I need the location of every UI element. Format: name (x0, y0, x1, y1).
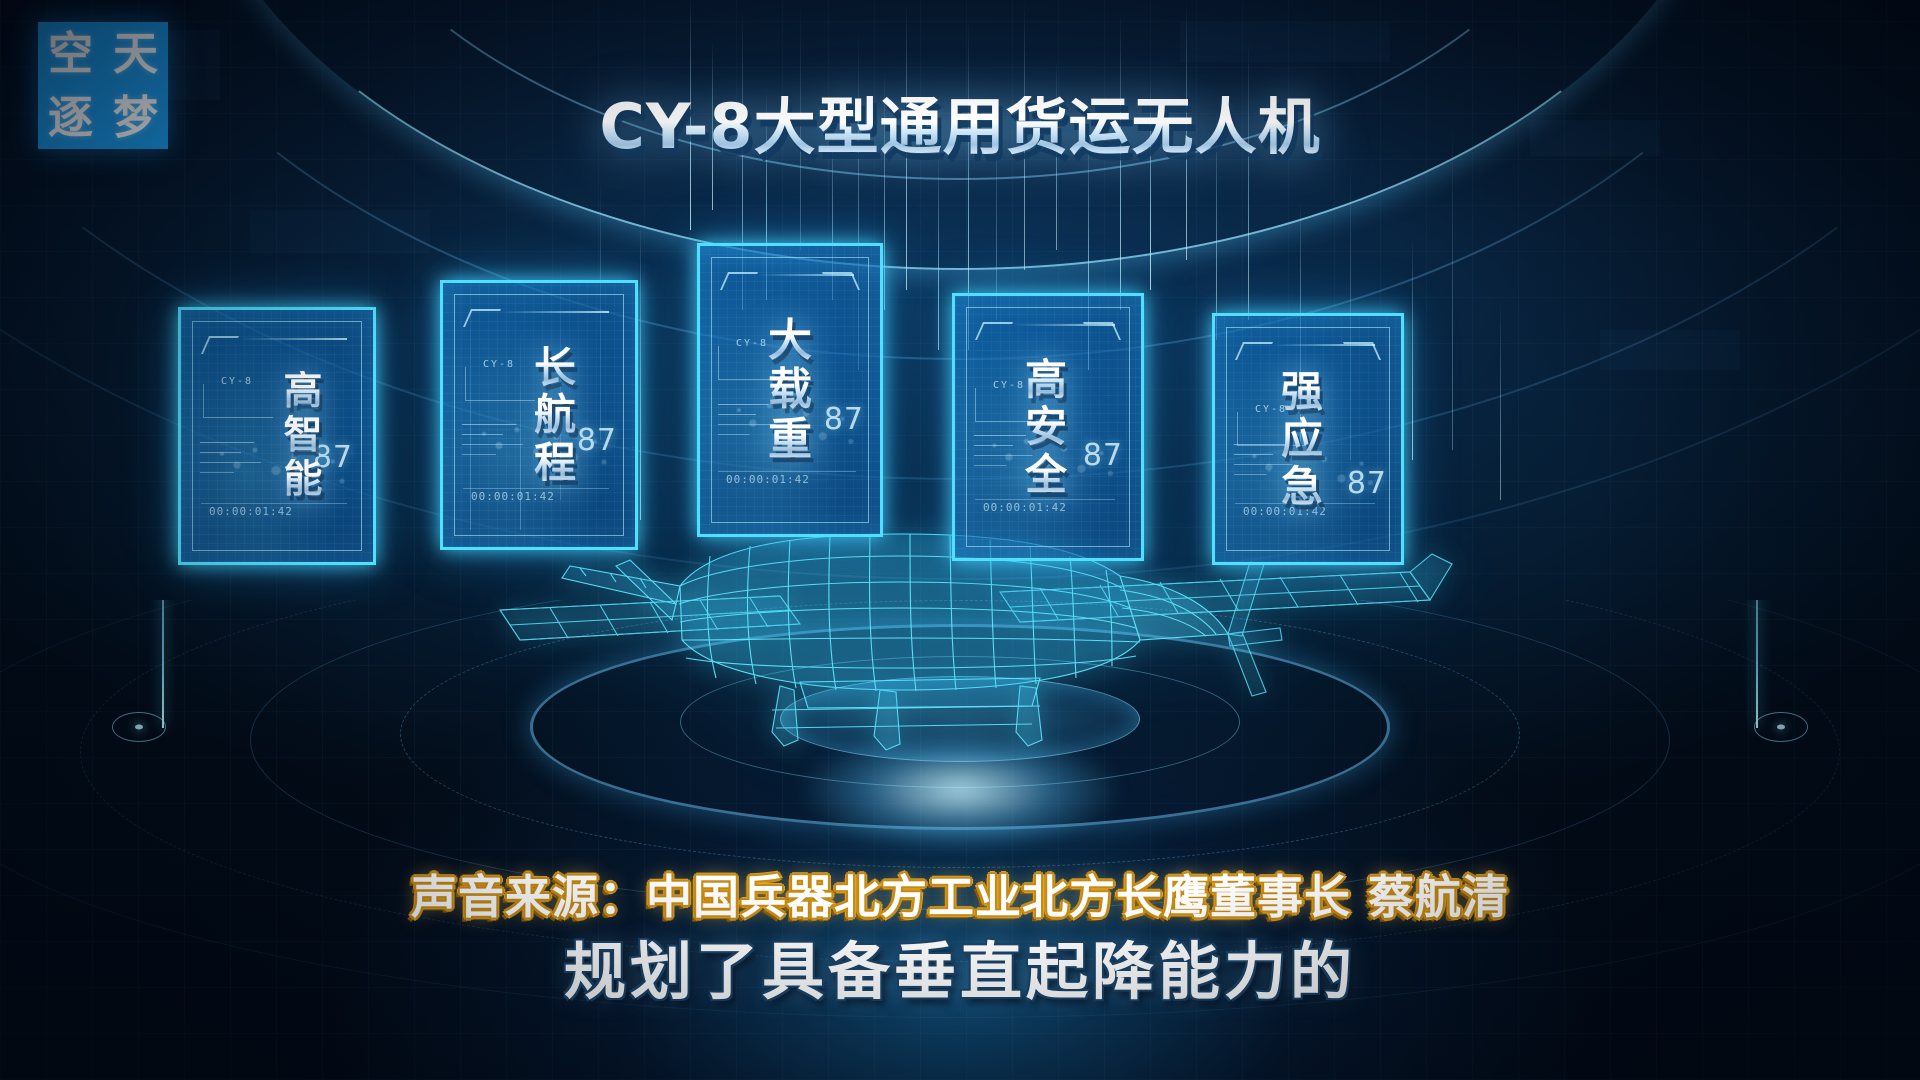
panel-metric-tick (583, 439, 593, 440)
panel-chart-lines (718, 402, 797, 448)
panel-hairline (201, 503, 347, 504)
panel-timecode: 00:00:01:42 (1243, 505, 1327, 518)
panel-chart-lines (462, 422, 546, 468)
subtitle-source-attribution: 声音来源：中国兵器北方工业北方长鹰董事长 蔡航清 (0, 872, 1920, 924)
panel-metric-value: 87 (313, 440, 353, 475)
panel-chart-lines (1234, 442, 1316, 488)
feature-panel-da-zai-zhong[interactable]: CY-8 87 00:00:01:42 大 载 重 (697, 243, 883, 537)
page-title: CY-8大型通用货运无人机 (0, 96, 1920, 158)
panel-hud-code: CY-8 (483, 359, 515, 370)
panel-hud-bracket (465, 367, 535, 401)
panel-top-accent-line (1273, 344, 1375, 346)
floor-node-right (1754, 712, 1808, 742)
panel-hud-code: CY-8 (1255, 404, 1287, 415)
panel-timecode: 00:00:01:42 (209, 505, 293, 518)
logo-char-3: 逐 (48, 95, 93, 140)
panel-chart-lines (200, 440, 284, 486)
panel-hairline (1235, 503, 1375, 504)
panel-timecode: 00:00:01:42 (471, 490, 555, 503)
feature-panel-chang-hang-cheng[interactable]: CY-8 87 00:00:01:42 长 航 程 (440, 280, 638, 550)
panel-hairline (718, 471, 856, 472)
feature-panel-gao-an-quan[interactable]: CY-8 87 00:00:01:42 高 安 全 (952, 293, 1144, 561)
panel-timecode: 00:00:01:42 (726, 473, 810, 486)
panel-timecode: 00:00:01:42 (983, 501, 1067, 514)
panel-hud-bracket (1237, 412, 1307, 446)
panel-metric-value: 87 (1083, 438, 1123, 473)
panel-hud-bracket (718, 346, 788, 380)
panel-top-accent-line (239, 338, 347, 340)
panel-metric-tick (1089, 454, 1099, 455)
panel-hud-bracket (975, 388, 1045, 422)
panel-top-accent-line (1013, 324, 1115, 326)
panel-metric-value: 87 (577, 423, 617, 458)
panel-top-accent-line (758, 274, 854, 276)
logo-char-4: 梦 (113, 95, 158, 140)
floor-node-left (112, 712, 166, 742)
panel-top-accent-line (501, 311, 609, 313)
panel-metric-tick (1353, 482, 1363, 483)
subtitle-caption-line: 规划了具备垂直起降能力的 (0, 938, 1920, 1006)
logo-char-2: 天 (113, 31, 158, 76)
panel-metric-value: 87 (824, 402, 864, 437)
feature-panel-gao-zhi-neng[interactable]: CY-8 87 00:00:01:42 高 智 能 (178, 307, 376, 565)
panel-metric-tick (319, 456, 329, 457)
light-pillar-left (162, 600, 164, 728)
subtitle-block: 声音来源：中国兵器北方工业北方长鹰董事长 蔡航清 规划了具备垂直起降能力的 (0, 872, 1920, 1006)
video-frame-stage: 空 天 逐 梦 CY-8大型通用货运无人机 (0, 0, 1920, 1080)
panel-chart-lines (974, 433, 1056, 479)
light-pillar-right (1756, 600, 1758, 728)
panel-metric-tick (830, 418, 840, 419)
panel-hud-bracket (203, 384, 273, 418)
panel-metric-value: 87 (1347, 466, 1387, 501)
logo-char-1: 空 (48, 31, 93, 76)
feature-panel-qiang-ying-ji[interactable]: CY-8 87 00:00:01:42 强 应 急 (1212, 313, 1404, 565)
panel-hairline (975, 499, 1115, 500)
panel-hairline (463, 488, 609, 489)
panel-hud-code: CY-8 (736, 338, 768, 349)
panel-hud-code: CY-8 (221, 376, 253, 387)
panel-hud-code: CY-8 (993, 380, 1025, 391)
channel-logo: 空 天 逐 梦 (38, 22, 168, 149)
